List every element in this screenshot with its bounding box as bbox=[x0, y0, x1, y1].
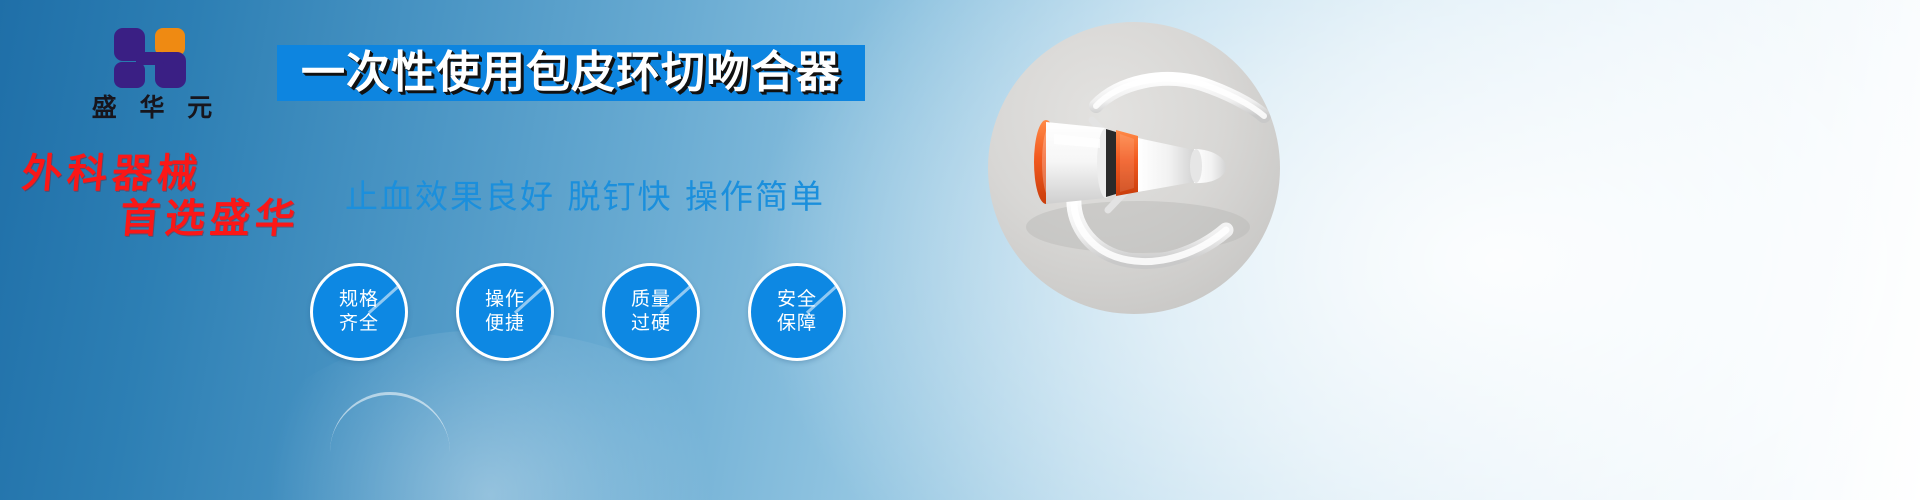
logo-connector-bar bbox=[136, 52, 164, 65]
feature-badge-safety[interactable]: 安全 保障 bbox=[748, 263, 846, 361]
feature-badge-line-2: 齐全 bbox=[339, 312, 379, 336]
shenghuayuan-logo-icon bbox=[114, 28, 190, 88]
feature-badge-line-1: 规格 bbox=[339, 288, 379, 312]
bottom-arc-decoration bbox=[330, 392, 450, 455]
brand-logo-block[interactable]: 盛 华 元 bbox=[62, 28, 242, 122]
feature-badge-line-1: 质量 bbox=[631, 288, 671, 312]
feature-badge-operation[interactable]: 操作 便捷 bbox=[456, 263, 554, 361]
calligraphy-line-1: 外科器械 bbox=[20, 152, 354, 195]
feature-badge-line-1: 操作 bbox=[485, 288, 525, 312]
product-title-band: 一次性使用包皮环切吻合器 bbox=[277, 45, 865, 101]
calligraphy-slogan: 外科器械 首选盛华 bbox=[22, 152, 352, 240]
feature-badge-line-2: 便捷 bbox=[485, 312, 525, 336]
product-title: 一次性使用包皮环切吻合器 bbox=[301, 51, 841, 95]
feature-badge-line-2: 过硬 bbox=[631, 312, 671, 336]
feature-badge-line-2: 保障 bbox=[777, 312, 817, 336]
stapler-device-illustration bbox=[988, 22, 1280, 314]
brand-name: 盛 华 元 bbox=[62, 94, 242, 122]
feature-badge-quality[interactable]: 质量 过硬 bbox=[602, 263, 700, 361]
calligraphy-line-2: 首选盛华 bbox=[118, 197, 354, 240]
product-subtitle: 止血效果良好 脱钉快 操作简单 bbox=[345, 170, 825, 218]
logo-square-bottom-left bbox=[114, 62, 145, 88]
circumcision-stapler-photo bbox=[988, 22, 1280, 314]
feature-badge-list: 规格 齐全 操作 便捷 质量 过硬 安全 保障 bbox=[310, 263, 846, 361]
feature-badge-line-1: 安全 bbox=[777, 288, 817, 312]
feature-badge-specification[interactable]: 规格 齐全 bbox=[310, 263, 408, 361]
product-promo-banner: 盛 华 元 一次性使用包皮环切吻合器 外科器械 首选盛华 止血效果良好 脱钉快 … bbox=[0, 0, 1920, 500]
